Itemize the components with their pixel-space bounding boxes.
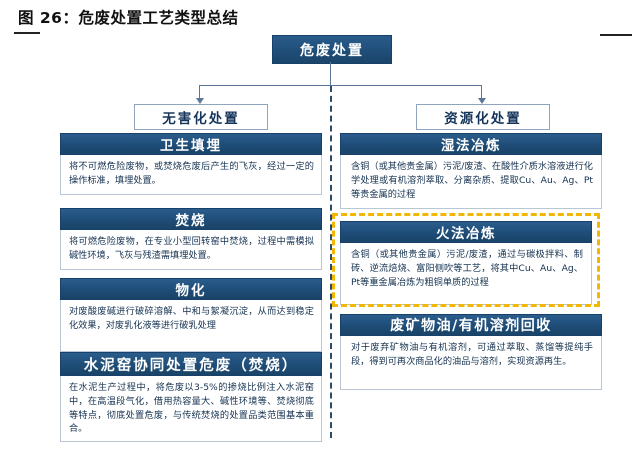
card-sanitary-landfill-title: 卫生填埋 xyxy=(60,133,322,155)
card-incineration-title: 焚烧 xyxy=(60,208,322,230)
card-pyrometallurgy-text: 含铜（或其他贵金属）污泥/废渣，通过与碳极拌料、制砖、逆流焙烧、富阳侧吹等工艺，… xyxy=(340,243,592,305)
card-pyrometallurgy[interactable]: 火法冶炼 含铜（或其他贵金属）污泥/废渣，通过与碳极拌料、制砖、逆流焙烧、富阳侧… xyxy=(340,221,592,305)
caption-rule-right xyxy=(600,34,632,36)
card-waste-oil-solvent-recovery-title: 废矿物油/有机溶剂回收 xyxy=(340,314,602,336)
card-hydrometallurgy-title: 湿法冶炼 xyxy=(340,133,602,155)
card-waste-oil-solvent-recovery-text: 对于废弃矿物油与有机溶剂，可通过萃取、蒸馏等提纯手段，得到可再次商品化的油品与溶… xyxy=(340,336,602,390)
card-physicochemical-text: 对废酸废碱进行破碎溶解、中和与絮凝沉淀，从而达到稳定化效果，对废乳化液等进行破乳… xyxy=(60,300,322,352)
connector-branch-right xyxy=(481,85,482,99)
card-cement-kiln-co-processing-title: 水泥窑协同处置危废（焚烧） xyxy=(60,352,322,376)
node-category-harmless[interactable]: 无害化处置 xyxy=(134,104,268,130)
card-incineration-text: 将可燃危险废物，在专业小型回转窑中焚烧，过程中需模拟碱性环境，飞灰与残渣需填埋处… xyxy=(60,230,322,270)
node-root[interactable]: 危废处置 xyxy=(272,35,392,64)
connector-branch-left xyxy=(199,85,200,99)
card-waste-oil-solvent-recovery[interactable]: 废矿物油/有机溶剂回收 对于废弃矿物油与有机溶剂，可通过萃取、蒸馏等提纯手段，得… xyxy=(340,314,602,390)
card-sanitary-landfill[interactable]: 卫生填埋 将不可燃危险废物，或焚烧危废后产生的飞灰，经过一定的操作标准，填埋处置… xyxy=(60,133,322,195)
node-category-resource-label: 资源化处置 xyxy=(444,107,522,127)
card-incineration[interactable]: 焚烧 将可燃危险废物，在专业小型回转窑中焚烧，过程中需模拟碱性环境，飞灰与残渣需… xyxy=(60,208,322,270)
figure-caption: 图 26：危废处置工艺类型总结 xyxy=(18,6,238,28)
card-pyrometallurgy-title: 火法冶炼 xyxy=(340,221,592,243)
node-category-harmless-label: 无害化处置 xyxy=(162,107,240,127)
card-cement-kiln-co-processing-text: 在水泥生产过程中，将危废以3-5%的掺烧比例注入水泥窑中，在高温段气化，借用热容… xyxy=(60,376,322,442)
card-hydrometallurgy-text: 含铜（或其他贵金属）污泥/废渣、在酸性介质水溶液进行化学处理或有机溶剂萃取、分离… xyxy=(340,155,602,209)
node-category-resource[interactable]: 资源化处置 xyxy=(416,104,550,130)
card-hydrometallurgy[interactable]: 湿法冶炼 含铜（或其他贵金属）污泥/废渣、在酸性介质水溶液进行化学处理或有机溶剂… xyxy=(340,133,602,209)
card-physicochemical-title: 物化 xyxy=(60,278,322,300)
caption-rule-left xyxy=(14,32,40,34)
node-root-label: 危废处置 xyxy=(300,40,364,60)
card-cement-kiln-co-processing[interactable]: 水泥窑协同处置危废（焚烧） 在水泥生产过程中，将危废以3-5%的掺烧比例注入水泥… xyxy=(60,352,322,442)
connector-horizontal-bus xyxy=(199,85,482,86)
card-sanitary-landfill-text: 将不可燃危险废物，或焚烧危废后产生的飞灰，经过一定的操作标准，填埋处置。 xyxy=(60,155,322,195)
card-physicochemical[interactable]: 物化 对废酸废碱进行破碎溶解、中和与絮凝沉淀，从而达到稳定化效果，对废乳化液等进… xyxy=(60,278,322,352)
figure-canvas: 图 26：危废处置工艺类型总结 危废处置 无害化处置 资源化处置 卫生填埋 将不… xyxy=(0,0,640,450)
column-divider xyxy=(330,86,332,438)
connector-root-stem xyxy=(330,62,331,86)
